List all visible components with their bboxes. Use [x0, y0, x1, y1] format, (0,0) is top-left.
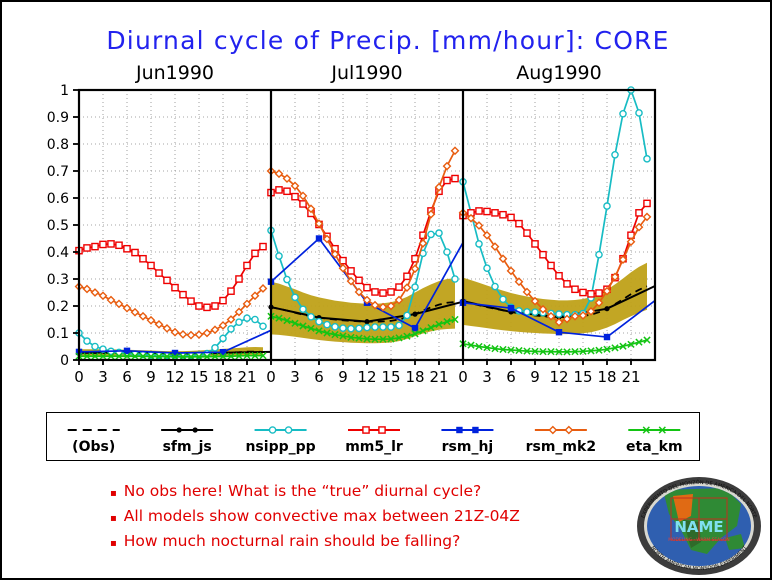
- data-point-marker: [492, 283, 498, 289]
- data-point-marker: [164, 325, 171, 332]
- x-tick-label: 21: [429, 368, 448, 386]
- x-tick-label: 3: [290, 368, 300, 386]
- x-tick-label: 15: [381, 368, 400, 386]
- slide-canvas: Diurnal cycle of Precip. [mm/hour]: CORE…: [0, 0, 772, 580]
- data-point-marker: [380, 324, 386, 330]
- bullet-marker-icon: ▪: [110, 533, 117, 555]
- data-point-marker: [316, 235, 322, 241]
- data-point-marker: [276, 187, 282, 193]
- bullet-text: How much nocturnal rain should be fallin…: [124, 530, 461, 552]
- data-point-marker: [324, 322, 330, 328]
- series-eta_km: [460, 337, 650, 355]
- bullet-text: All models show convective max between 2…: [124, 505, 520, 527]
- data-point-marker: [188, 298, 194, 304]
- data-point-marker: [204, 350, 210, 356]
- data-point-marker: [549, 427, 556, 434]
- data-point-marker: [108, 241, 114, 247]
- y-tick-label: 0: [60, 353, 69, 369]
- legend-label: sfm_js: [163, 439, 212, 455]
- data-point-marker: [148, 317, 155, 324]
- data-point-marker: [156, 321, 163, 328]
- data-point-marker: [172, 285, 178, 291]
- data-point-marker: [364, 319, 369, 324]
- y-tick-label: 0.5: [47, 218, 69, 234]
- data-point-marker: [364, 325, 370, 331]
- data-point-marker: [92, 289, 99, 296]
- data-point-marker: [380, 290, 386, 296]
- x-tick-label: 21: [237, 368, 256, 386]
- data-point-marker: [620, 111, 626, 117]
- data-point-marker: [332, 324, 338, 330]
- data-point-marker: [444, 249, 450, 255]
- legend-label: rsm_mk2: [526, 439, 596, 455]
- x-tick-label: 12: [357, 368, 376, 386]
- data-point-marker: [388, 289, 394, 295]
- data-point-marker: [100, 292, 107, 299]
- data-point-marker: [244, 262, 250, 268]
- data-point-marker: [452, 175, 458, 181]
- data-point-marker: [500, 296, 506, 302]
- data-point-marker: [177, 427, 182, 432]
- data-point-marker: [644, 200, 650, 206]
- x-tick-label: 18: [213, 368, 232, 386]
- data-point-marker: [436, 230, 442, 236]
- data-point-marker: [604, 306, 609, 311]
- y-tick-label: 0.9: [47, 110, 69, 126]
- series-line: [79, 356, 263, 357]
- data-point-marker: [644, 156, 650, 162]
- legend-item-sfm_js: sfm_js: [161, 427, 213, 455]
- chart-figure: Jun1990Jul1990Aug1990 00.10.20.30.40.50.…: [2, 62, 772, 392]
- data-point-marker: [196, 331, 203, 338]
- data-point-marker: [484, 265, 490, 271]
- data-point-marker: [348, 268, 354, 274]
- data-point-marker: [148, 262, 154, 268]
- legend-item-obs: (Obs): [68, 430, 120, 455]
- data-point-marker: [476, 241, 482, 247]
- bullet-item-1: ▪No obs here! What is the “true” diurnal…: [110, 480, 630, 505]
- data-point-marker: [308, 314, 314, 320]
- data-point-marker: [212, 326, 219, 333]
- diurnal-cycle-plot: 00.10.20.30.40.50.60.70.80.9103691215182…: [2, 62, 772, 392]
- data-point-marker: [284, 188, 290, 194]
- x-tick-label: 12: [165, 368, 184, 386]
- data-point-marker: [300, 201, 306, 207]
- data-point-marker: [228, 288, 234, 294]
- x-tick-label: 9: [338, 368, 348, 386]
- data-point-marker: [532, 309, 538, 315]
- series-rsm_mk2: [76, 283, 267, 338]
- y-tick-label: 0.4: [47, 245, 69, 261]
- data-point-marker: [372, 289, 378, 295]
- x-tick-label: 0: [74, 368, 84, 386]
- legend-label: (Obs): [72, 439, 115, 455]
- data-point-marker: [540, 252, 546, 258]
- x-tick-label: 6: [506, 368, 516, 386]
- data-point-marker: [556, 273, 562, 279]
- data-point-marker: [340, 325, 346, 331]
- data-point-marker: [596, 252, 602, 258]
- data-point-marker: [604, 203, 610, 209]
- data-point-marker: [524, 309, 530, 315]
- data-point-marker: [604, 334, 610, 340]
- data-point-marker: [236, 319, 242, 325]
- legend-label: mm5_lr: [345, 439, 403, 455]
- data-point-marker: [220, 335, 226, 341]
- name-logo: NAME MODELING · WARM SEASON EXPERIMENTO …: [629, 476, 769, 576]
- data-point-marker: [164, 277, 170, 283]
- data-point-marker: [356, 277, 362, 283]
- legend-item-rsm_mk2: rsm_mk2: [526, 427, 596, 455]
- y-tick-label: 0.8: [47, 137, 69, 153]
- data-point-marker: [484, 208, 490, 214]
- legend-item-nsipp_pp: nsipp_pp: [245, 427, 315, 455]
- data-point-marker: [84, 338, 90, 344]
- series-mm5_lr: [76, 241, 266, 311]
- x-tick-label: 6: [122, 368, 132, 386]
- data-point-marker: [180, 331, 187, 338]
- data-point-marker: [292, 194, 298, 200]
- data-point-marker: [412, 284, 418, 290]
- data-point-marker: [269, 427, 275, 433]
- data-point-marker: [316, 319, 322, 325]
- data-point-marker: [204, 330, 211, 337]
- data-point-marker: [500, 212, 506, 218]
- data-point-marker: [452, 147, 459, 154]
- data-point-marker: [252, 316, 258, 322]
- data-point-marker: [556, 311, 562, 317]
- data-point-marker: [292, 294, 298, 300]
- data-point-marker: [348, 326, 354, 332]
- data-point-marker: [108, 297, 115, 304]
- data-point-marker: [364, 285, 370, 291]
- data-point-marker: [212, 345, 218, 351]
- data-point-marker: [116, 300, 123, 307]
- x-tick-label: 0: [266, 368, 276, 386]
- legend-label: nsipp_pp: [245, 439, 315, 455]
- data-point-marker: [196, 303, 202, 309]
- bullet-item-2: ▪All models show convective max between …: [110, 505, 630, 530]
- x-tick-label: 21: [621, 368, 640, 386]
- data-point-marker: [228, 326, 234, 332]
- data-point-marker: [92, 343, 98, 349]
- data-point-marker: [92, 244, 98, 250]
- data-point-marker: [363, 427, 369, 433]
- data-point-marker: [285, 427, 291, 433]
- data-point-marker: [188, 332, 195, 339]
- data-point-marker: [140, 256, 146, 262]
- data-point-marker: [524, 230, 530, 236]
- obs-uncertainty-band: [463, 263, 647, 334]
- y-tick-label: 0.2: [47, 299, 69, 315]
- data-point-marker: [124, 305, 131, 312]
- data-point-marker: [548, 262, 554, 268]
- x-tick-label: 9: [146, 368, 156, 386]
- series-line: [79, 287, 263, 336]
- bullet-item-3: ▪How much nocturnal rain should be falli…: [110, 530, 630, 555]
- data-point-marker: [452, 276, 458, 282]
- data-point-marker: [276, 253, 282, 259]
- data-point-marker: [412, 265, 419, 272]
- data-point-marker: [220, 298, 226, 304]
- data-point-marker: [556, 329, 562, 335]
- x-tick-label: 3: [482, 368, 492, 386]
- x-tick-label: 0: [458, 368, 468, 386]
- data-point-marker: [180, 292, 186, 298]
- data-point-marker: [84, 245, 90, 251]
- legend-item-rsm_hj: rsm_hj: [441, 427, 493, 455]
- data-point-marker: [564, 281, 570, 287]
- legend-item-eta_km: eta_km: [626, 427, 683, 455]
- series-line: [463, 203, 647, 293]
- data-point-marker: [140, 313, 147, 320]
- y-tick-label: 0.3: [47, 272, 69, 288]
- data-point-marker: [388, 324, 394, 330]
- bullet-text: No obs here! What is the “true” diurnal …: [124, 480, 481, 502]
- page-title: Diurnal cycle of Precip. [mm/hour]: CORE: [2, 26, 772, 55]
- data-point-marker: [84, 286, 91, 293]
- x-tick-label: 9: [530, 368, 540, 386]
- legend-label: rsm_hj: [442, 439, 494, 455]
- logo-subtitle: MODELING · WARM SEASON: [668, 537, 729, 543]
- data-point-marker: [456, 427, 462, 433]
- data-point-marker: [572, 286, 578, 292]
- data-point-marker: [100, 241, 106, 247]
- data-point-marker: [260, 323, 266, 329]
- logo-acronym: NAME: [674, 518, 723, 536]
- x-tick-label: 18: [405, 368, 424, 386]
- data-point-marker: [356, 325, 362, 331]
- data-point-marker: [492, 210, 498, 216]
- data-point-marker: [516, 221, 522, 227]
- bullet-marker-icon: ▪: [110, 483, 117, 505]
- data-point-marker: [116, 242, 122, 248]
- data-point-marker: [428, 231, 434, 237]
- data-point-marker: [565, 427, 572, 434]
- y-tick-label: 1: [60, 83, 69, 99]
- data-point-marker: [124, 246, 130, 252]
- data-point-marker: [260, 244, 266, 250]
- data-point-marker: [244, 315, 250, 321]
- x-tick-label: 3: [98, 368, 108, 386]
- x-tick-label: 12: [549, 368, 568, 386]
- series-line: [463, 90, 647, 315]
- data-point-marker: [156, 270, 162, 276]
- bullet-list: ▪No obs here! What is the “true” diurnal…: [110, 480, 630, 555]
- legend-item-mm5_lr: mm5_lr: [345, 427, 403, 455]
- data-point-marker: [204, 304, 210, 310]
- data-point-marker: [212, 303, 218, 309]
- legend-entries: (Obs)sfm_jsnsipp_ppmm5_lrrsm_hjrsm_mk2et…: [47, 413, 701, 462]
- data-point-marker: [532, 241, 538, 247]
- y-tick-label: 0.7: [47, 164, 69, 180]
- data-point-marker: [476, 208, 482, 214]
- data-point-marker: [636, 110, 642, 116]
- legend-label: eta_km: [626, 439, 683, 455]
- data-point-marker: [193, 427, 198, 432]
- x-tick-label: 18: [597, 368, 616, 386]
- data-point-marker: [300, 306, 306, 312]
- series-line: [463, 340, 647, 352]
- name-logo-graphic: NAME MODELING · WARM SEASON EXPERIMENTO …: [629, 476, 769, 576]
- chart-legend: (Obs)sfm_jsnsipp_ppmm5_lrrsm_hjrsm_mk2et…: [46, 412, 700, 461]
- data-point-marker: [472, 427, 478, 433]
- y-tick-label: 0.1: [47, 326, 69, 342]
- x-tick-label: 6: [314, 368, 324, 386]
- data-point-marker: [284, 276, 290, 282]
- x-tick-label: 15: [573, 368, 592, 386]
- data-point-marker: [412, 312, 417, 317]
- data-point-marker: [372, 324, 378, 330]
- data-point-marker: [132, 249, 138, 255]
- data-point-marker: [596, 290, 602, 296]
- data-point-marker: [404, 312, 410, 318]
- data-point-marker: [252, 250, 258, 256]
- data-point-marker: [508, 214, 514, 220]
- data-point-marker: [580, 289, 586, 295]
- data-point-marker: [508, 305, 514, 311]
- y-tick-label: 0.6: [47, 191, 69, 207]
- data-point-marker: [396, 322, 402, 328]
- data-point-marker: [444, 177, 450, 183]
- data-point-marker: [636, 210, 642, 216]
- data-point-marker: [588, 291, 594, 297]
- data-point-marker: [236, 276, 242, 282]
- data-point-marker: [132, 309, 139, 316]
- x-tick-label: 15: [189, 368, 208, 386]
- data-point-marker: [612, 152, 618, 158]
- data-point-marker: [379, 427, 385, 433]
- data-point-marker: [444, 163, 451, 170]
- data-point-marker: [412, 325, 418, 331]
- data-point-marker: [404, 273, 410, 279]
- bullet-marker-icon: ▪: [110, 508, 117, 530]
- data-point-marker: [172, 329, 179, 336]
- data-point-marker: [396, 284, 402, 290]
- data-point-marker: [156, 352, 162, 358]
